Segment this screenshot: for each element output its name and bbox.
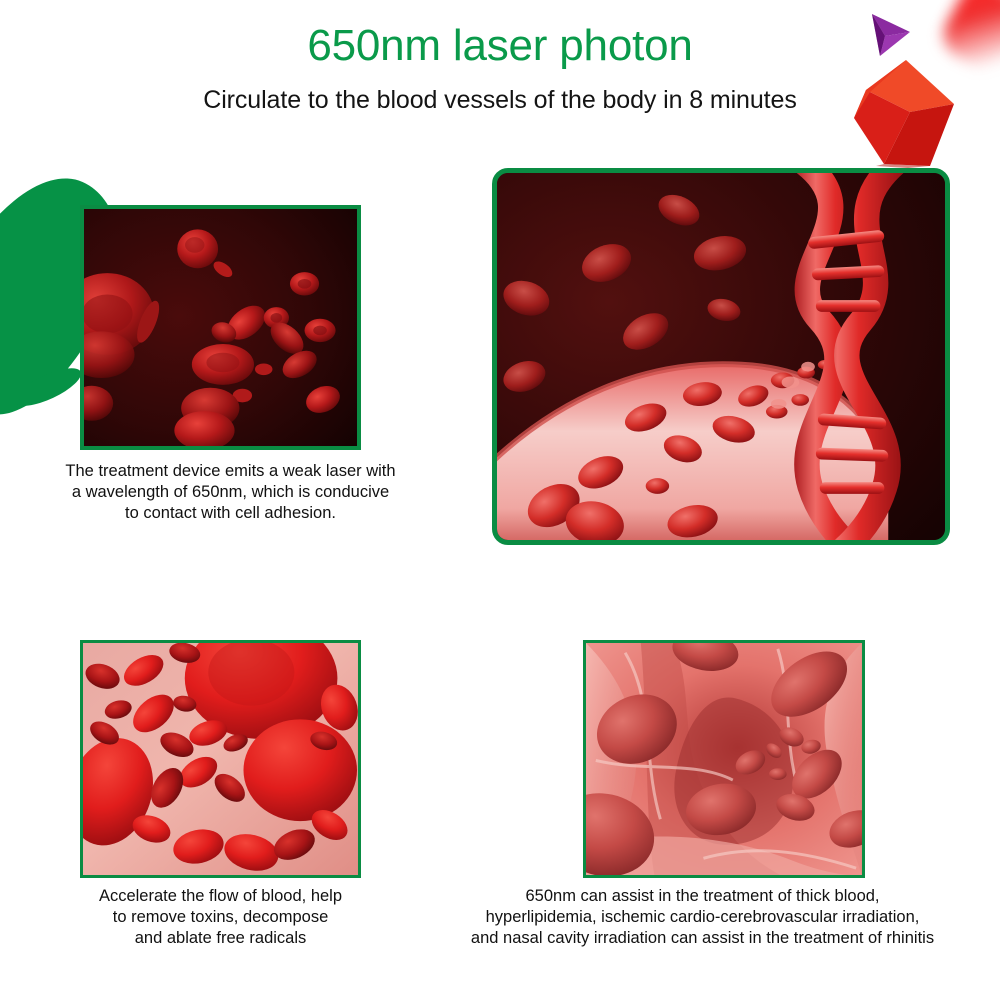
dna-helix-illustration <box>497 173 945 542</box>
image-panel-vessel-interior <box>583 640 865 878</box>
page-subtitle: Circulate to the blood vessels of the bo… <box>0 86 1000 115</box>
panel-4-caption: 650nm can assist in the treatment of thi… <box>405 886 1000 949</box>
vessel-interior-illustration <box>586 643 862 876</box>
poster-canvas: 650nm laser photon Circulate to the bloo… <box>0 0 1000 1000</box>
blood-cells-dark-illustration <box>84 209 357 447</box>
image-panel-blood-flow <box>80 640 361 878</box>
image-panel-blood-cells-dark <box>80 205 361 450</box>
panel-1-caption: The treatment device emits a weak laser … <box>18 461 443 524</box>
image-panel-dna-vessel <box>492 168 950 545</box>
blood-flow-illustration <box>83 643 358 876</box>
panel-3-caption: Accelerate the flow of blood, help to re… <box>48 886 393 949</box>
page-title: 650nm laser photon <box>0 22 1000 70</box>
